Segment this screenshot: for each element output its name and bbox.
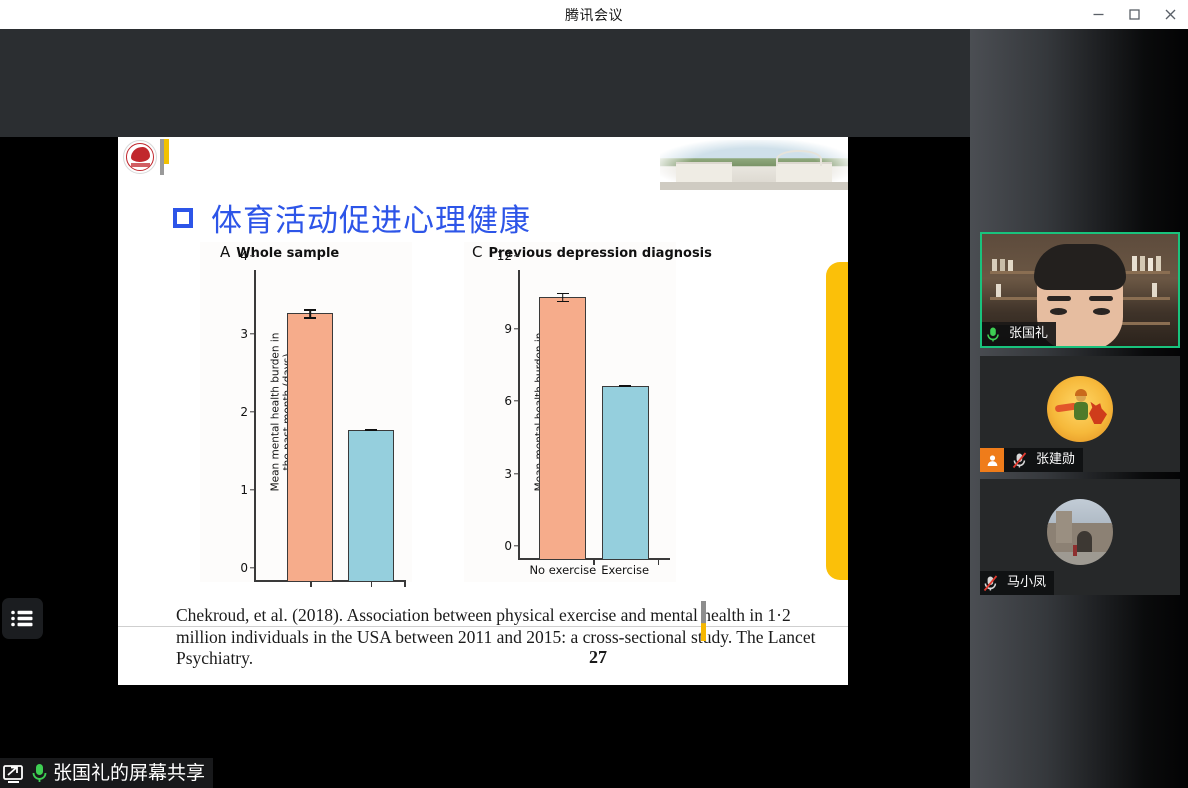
chart-c-ytick: 0 bbox=[504, 539, 518, 553]
participant-name-bar: 张国礼 bbox=[982, 322, 1056, 346]
chart-a-ytick: 0 bbox=[240, 561, 254, 575]
participant-name-bar: 马小凤 bbox=[980, 571, 1054, 595]
person-badge-icon bbox=[980, 448, 1004, 472]
slide-page-number: 27 bbox=[118, 647, 848, 668]
campus-gate-photo bbox=[660, 140, 848, 190]
chart-c-ytick: 6 bbox=[504, 394, 518, 408]
participant-tile-zhang-guoli[interactable]: 张国礼 bbox=[980, 232, 1180, 348]
participant-name-bar: 张建勋 bbox=[980, 448, 1083, 472]
microphone-muted-icon bbox=[980, 575, 1002, 592]
slide-title-row: 体育活动促进心理健康 bbox=[173, 195, 531, 240]
avatar bbox=[1047, 499, 1113, 565]
chart-c-bars: No exercise Exercise bbox=[518, 270, 670, 560]
window-title: 腾讯会议 bbox=[565, 5, 623, 25]
microphone-icon bbox=[30, 762, 49, 784]
participant-name: 马小凤 bbox=[1007, 576, 1046, 590]
slide-callout-box: 运动组 比非运 动组的 心理健 康负担 更轻 bbox=[826, 262, 848, 580]
chart-c-xtick-label: No exercise bbox=[529, 563, 596, 577]
chart-panel-c: CPrevious depression diagnosis Mean ment… bbox=[464, 242, 676, 582]
chart-c-ytick: 9 bbox=[504, 322, 518, 336]
minimize-icon[interactable] bbox=[1080, 0, 1116, 29]
logo-yellow-bar-icon bbox=[164, 139, 169, 164]
chart-a-ytick: 2 bbox=[240, 405, 254, 419]
chart-c-letter: C bbox=[472, 243, 482, 261]
participants-panel: 张国礼 bbox=[970, 29, 1188, 788]
tencent-meeting-window: 腾讯会议 体育活动促进心理健康 bbox=[0, 0, 1188, 788]
chart-c-xtick-label: Exercise bbox=[601, 563, 649, 577]
chart-a-bars bbox=[254, 270, 406, 582]
chart-a-ytick: 4 bbox=[240, 249, 254, 263]
chart-a-bar-exercise bbox=[348, 430, 394, 582]
chart-a-ytick: 3 bbox=[240, 327, 254, 341]
screen-share-label: 张国礼的屏幕共享 bbox=[53, 763, 205, 783]
figure-charts: AWhole sample Mean mental health burden … bbox=[200, 242, 800, 582]
screen-share-bar: 张国礼的屏幕共享 bbox=[0, 758, 213, 788]
screen-share-icon bbox=[2, 762, 26, 784]
maximize-icon[interactable] bbox=[1116, 0, 1152, 29]
window-controls bbox=[1080, 0, 1188, 29]
chart-a-letter: A bbox=[220, 243, 230, 261]
university-seal-icon bbox=[123, 140, 157, 174]
chart-a-heading: AWhole sample bbox=[220, 242, 339, 261]
chart-c-plot: 0 3 6 9 12 No exercise bbox=[518, 270, 670, 560]
chart-c-ytick: 12 bbox=[497, 249, 518, 263]
close-icon[interactable] bbox=[1152, 0, 1188, 29]
participants-list-button[interactable] bbox=[2, 598, 43, 639]
participant-name: 张国礼 bbox=[1009, 327, 1048, 341]
window-title-bar: 腾讯会议 bbox=[0, 0, 1188, 29]
participant-name: 张建勋 bbox=[1036, 453, 1075, 467]
text-cursor-icon bbox=[701, 601, 706, 641]
chart-panel-a: AWhole sample Mean mental health burden … bbox=[200, 242, 412, 582]
chart-a-bar-no-exercise bbox=[287, 313, 333, 582]
chart-a-ytick: 1 bbox=[240, 483, 254, 497]
chart-c-ytick: 3 bbox=[504, 467, 518, 481]
slide-title: 体育活动促进心理健康 bbox=[211, 195, 531, 240]
chart-a-plot: 0 1 2 3 4 bbox=[254, 270, 406, 582]
square-bullet-icon bbox=[173, 208, 193, 228]
chart-c-bar-exercise bbox=[602, 386, 649, 560]
stage-top-band bbox=[0, 29, 970, 137]
avatar bbox=[1047, 376, 1113, 442]
list-icon bbox=[11, 610, 34, 627]
presentation-slide: 体育活动促进心理健康 AWhole sample Mean mental hea… bbox=[118, 137, 848, 685]
participant-tile-zhang-jianxun[interactable]: 张建勋 bbox=[980, 356, 1180, 472]
chart-c-bar-no-exercise bbox=[539, 297, 586, 560]
microphone-icon bbox=[982, 326, 1004, 343]
participant-tile-ma-xiaofeng[interactable]: 马小凤 bbox=[980, 479, 1180, 595]
microphone-muted-icon bbox=[1009, 452, 1031, 469]
chart-c-title: Previous depression diagnosis bbox=[488, 246, 711, 261]
